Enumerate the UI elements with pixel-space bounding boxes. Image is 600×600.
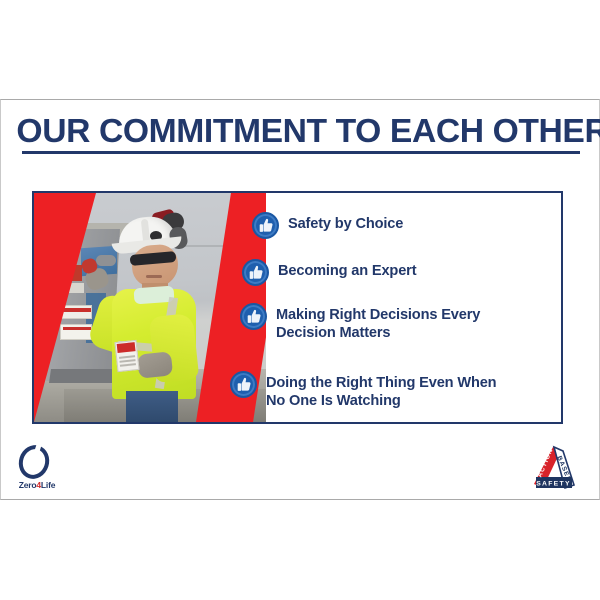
page-title-block: OUR COMMITMENT TO EACH OTHER [22, 114, 580, 154]
thumbs-up-icon [230, 371, 257, 398]
poster-canvas: OUR COMMITMENT TO EACH OTHER [0, 0, 600, 600]
thumbs-up-icon [252, 212, 279, 239]
worker-right-glove [137, 351, 173, 378]
list-item: Doing the Right Thing Even When No One I… [230, 371, 496, 410]
thumbs-up-icon [242, 259, 269, 286]
list-item-label: Safety by Choice [288, 212, 403, 233]
cabinet-warning-label-2 [60, 324, 92, 340]
content-panel: Safety by Choice Becoming an Expert [32, 191, 563, 424]
list-item-label: Becoming an Expert [278, 259, 416, 280]
list-item-label: Doing the Right Thing Even When No One I… [266, 371, 496, 410]
zero4life-wordmark: Zero4Life [9, 480, 65, 490]
list-item: Becoming an Expert [242, 259, 416, 286]
action-based-safety-badge: ACTION BASED SAFETY [529, 444, 577, 490]
zero4life-word-after: Life [41, 480, 55, 490]
cabinet-knob [96, 255, 116, 266]
list-item: Making Right Decisions Every Decision Ma… [240, 303, 480, 342]
zero4life-o-mark-icon [14, 441, 53, 483]
worker-jeans [126, 391, 178, 422]
list-item-label: Making Right Decisions Every Decision Ma… [276, 303, 480, 342]
commitment-list: Safety by Choice Becoming an Expert [242, 193, 563, 422]
zero4life-logo: Zero4Life [9, 445, 65, 491]
worker-mouth [146, 275, 162, 278]
thumbs-up-icon [240, 303, 267, 330]
page-title: OUR COMMITMENT TO EACH OTHER [16, 114, 585, 148]
zero4life-word-before: Zero [19, 480, 37, 490]
poster-card: OUR COMMITMENT TO EACH OTHER [0, 99, 600, 500]
red-lockout-tag [114, 340, 139, 372]
list-item: Safety by Choice [252, 212, 403, 239]
title-underline [22, 151, 580, 154]
badge-text-safety: SAFETY [536, 480, 571, 487]
